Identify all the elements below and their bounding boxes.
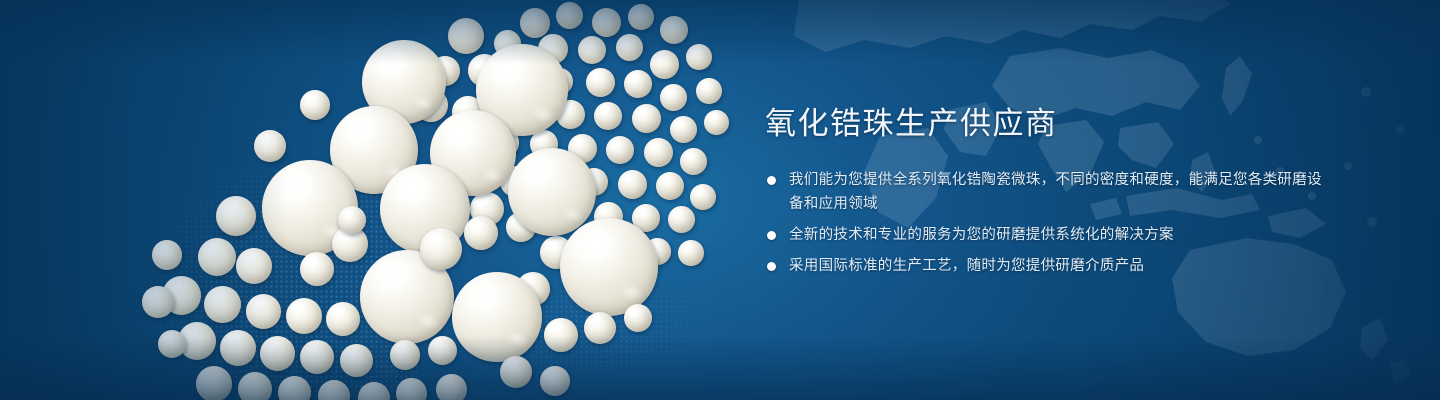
feature-bullet-list: 我们能为您提供全系列氧化锆陶瓷微珠，不同的密度和硬度，能满足您各类研磨设备和应用… [765,168,1325,278]
list-item: 全新的技术和专业的服务为您的研磨提供系统化的解决方案 [765,223,1325,247]
list-item: 采用国际标准的生产工艺，随时为您提供研磨介质产品 [765,254,1325,278]
banner-copy: 氧化锆珠生产供应商 我们能为您提供全系列氧化锆陶瓷微珠，不同的密度和硬度，能满足… [765,104,1325,278]
page-title: 氧化锆珠生产供应商 [765,104,1325,144]
bullet-dot-icon [767,262,776,271]
hero-banner: 氧化锆珠生产供应商 我们能为您提供全系列氧化锆陶瓷微珠，不同的密度和硬度，能满足… [0,0,1440,400]
list-item: 我们能为您提供全系列氧化锆陶瓷微珠，不同的密度和硬度，能满足您各类研磨设备和应用… [765,168,1325,216]
list-item-text: 采用国际标准的生产工艺，随时为您提供研磨介质产品 [789,258,1144,274]
bullet-dot-icon [767,176,776,185]
list-item-text: 全新的技术和专业的服务为您的研磨提供系统化的解决方案 [789,227,1174,243]
bullet-dot-icon [767,231,776,240]
list-item-text: 我们能为您提供全系列氧化锆陶瓷微珠，不同的密度和硬度，能满足您各类研磨设备和应用… [789,172,1322,212]
